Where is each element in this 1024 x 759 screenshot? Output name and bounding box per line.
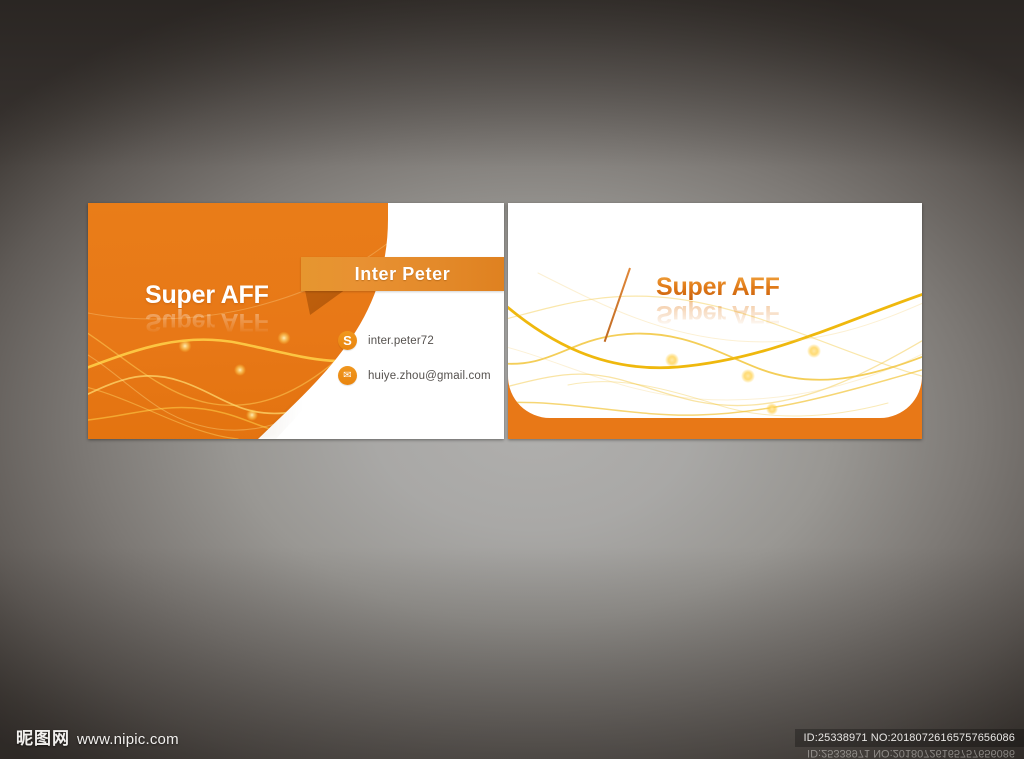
asset-id-bar: ID:25338971 NO:20180726165757656086 (795, 729, 1024, 747)
front-card-mirror-reflection: Super AFF Super AFF S inter.peter72 ✉ hu… (88, 207, 504, 443)
watermark-cn-label: 昵图网 (16, 724, 70, 749)
site-watermark: 昵图网 www.nipic.com (16, 724, 179, 749)
screenshot-canvas: Inter Peter Super AFF Super AFF S inter.… (0, 0, 1024, 759)
watermark-url-label: www.nipic.com (77, 731, 179, 748)
back-card-mirror-reflection: Super AFF Super AFF (508, 207, 922, 443)
asset-id-label: ID:25338971 NO:20180726165757656086 (804, 732, 1015, 744)
asset-id-bar-reflection: ID:25338971 NO:20180726165757656086 (798, 750, 1024, 759)
